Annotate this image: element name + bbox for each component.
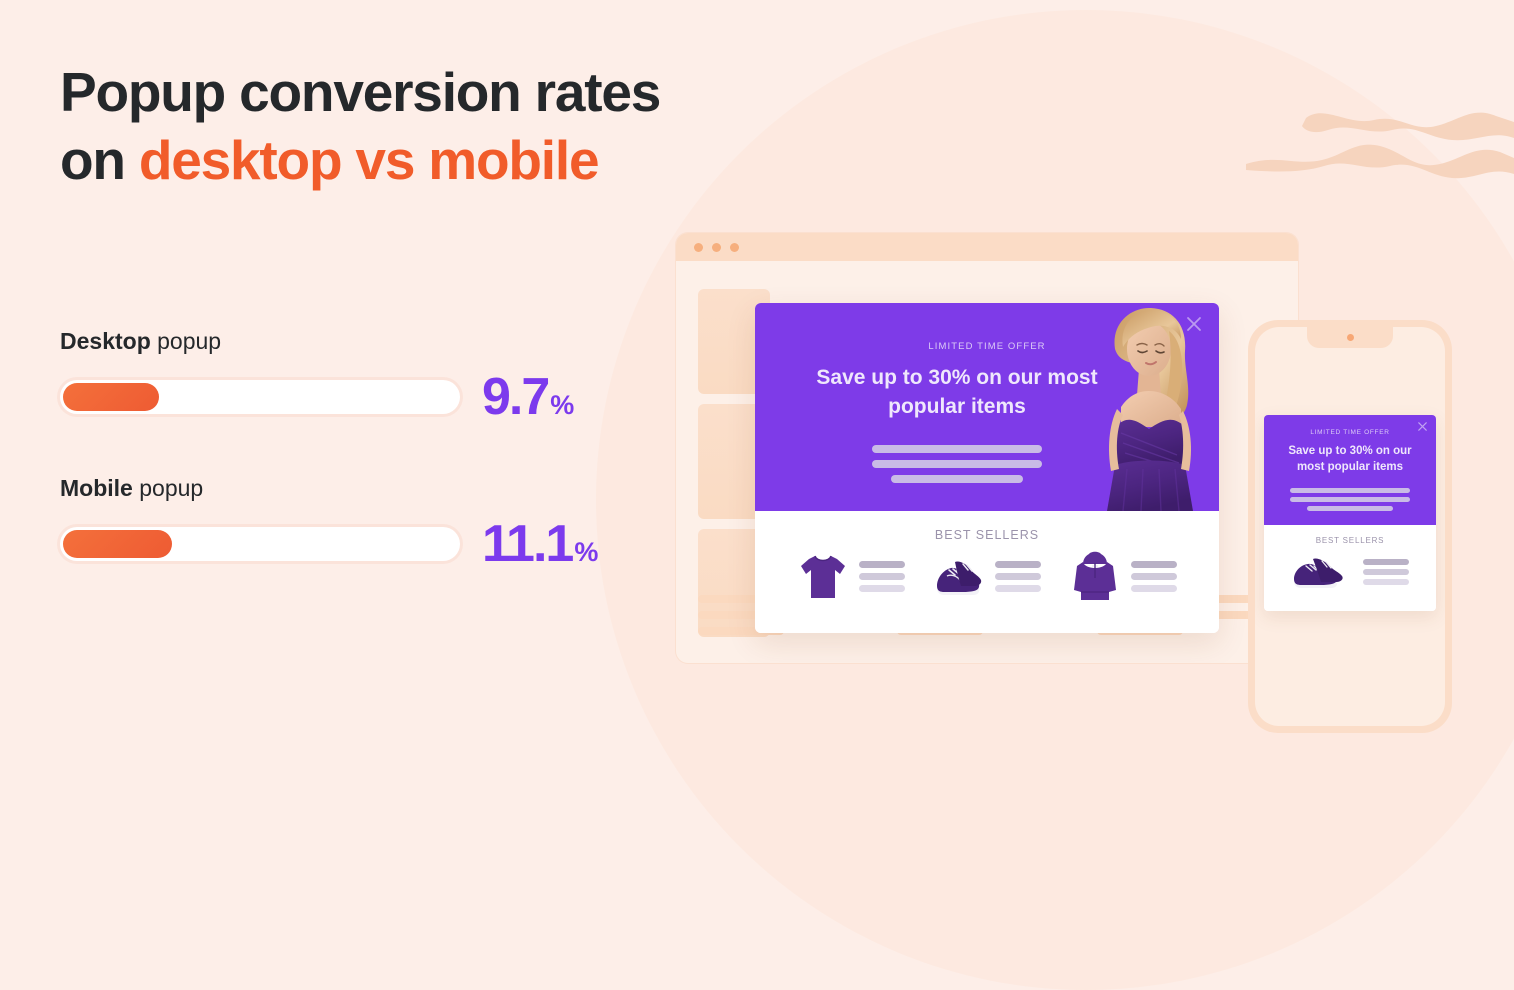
stat-line-desktop: 9.7% [60,371,620,423]
placeholder-bar [1307,506,1393,511]
stat-label-desktop-bold: Desktop [60,328,151,354]
traffic-light-maximize-icon[interactable] [730,243,739,252]
placeholder-line [995,585,1041,592]
mobile-popup-modal: LIMITED TIME OFFER Save up to 30% on our… [1264,415,1436,611]
progress-bar-fill-mobile [63,530,172,558]
stat-label-mobile-bold: Mobile [60,475,133,501]
placeholder-line [1131,585,1177,592]
close-icon[interactable] [1416,420,1429,433]
sneakers-icon [933,548,985,604]
model-photo [1081,303,1211,511]
mobile-popup-title: Save up to 30% on our most popular items [1274,443,1426,475]
progress-bar-mobile [60,527,460,561]
placeholder-line [859,585,905,592]
product-item-sneakers[interactable] [933,548,1041,604]
phone-screen: LIMITED TIME OFFER Save up to 30% on our… [1255,327,1445,726]
stat-line-mobile: 11.1% [60,518,620,570]
camera-icon [1347,334,1354,341]
headline-line-1: Popup conversion rates [60,61,660,123]
stat-value-mobile: 11.1% [482,518,598,570]
best-sellers-label: BEST SELLERS [755,511,1219,542]
product-text-placeholder [1363,559,1409,585]
hoodie-icon [1069,548,1121,604]
page-title: Popup conversion rates on desktop vs mob… [60,58,660,194]
browser-window-mockup: LIMITED TIME OFFER Save up to 30% on our… [676,233,1298,663]
stat-row-desktop: Desktop popup 9.7% [60,328,620,423]
stats-panel: Desktop popup 9.7% Mobile popup 11.1% [60,328,620,622]
placeholder-bar [891,475,1024,483]
stat-label-desktop-rest: popup [151,328,221,354]
stat-value-desktop: 9.7% [482,371,574,423]
mobile-popup-placeholder-bars [1274,488,1426,511]
mobile-popup-header: LIMITED TIME OFFER Save up to 30% on our… [1264,415,1436,525]
desktop-popup-modal: LIMITED TIME OFFER Save up to 30% on our… [755,303,1219,633]
stat-label-desktop: Desktop popup [60,328,620,355]
mobile-popup-eyebrow: LIMITED TIME OFFER [1274,429,1426,436]
placeholder-bar [1290,488,1410,493]
placeholder-line [995,573,1041,580]
product-item-tshirt[interactable] [797,548,905,604]
mobile-popup-body: BEST SELLERS [1264,525,1436,611]
product-list [755,542,1219,604]
placeholder-line [859,573,905,580]
product-text-placeholder [1131,561,1177,592]
progress-bar-desktop [60,380,460,414]
stat-value-mobile-number: 11.1 [482,518,572,570]
stat-value-mobile-unit: % [574,539,598,566]
desktop-popup-header: LIMITED TIME OFFER Save up to 30% on our… [755,303,1219,511]
placeholder-bar [872,460,1042,468]
product-item-hoodie[interactable] [1069,548,1177,604]
product-text-placeholder [995,561,1041,592]
placeholder-line [995,561,1041,568]
progress-bar-fill-desktop [63,383,159,411]
placeholder-bar [1290,497,1410,502]
stat-row-mobile: Mobile popup 11.1% [60,475,620,570]
browser-content-area: LIMITED TIME OFFER Save up to 30% on our… [676,261,1298,663]
stat-label-mobile: Mobile popup [60,475,620,502]
wave-decoration [1244,96,1514,196]
desktop-popup-placeholder-bars [872,445,1042,483]
product-item-sneakers[interactable] [1264,551,1436,593]
placeholder-line [1363,559,1409,565]
placeholder-line [1363,569,1409,575]
placeholder-line [1363,579,1409,585]
stat-value-desktop-number: 9.7 [482,371,548,423]
stat-label-mobile-rest: popup [133,475,203,501]
desktop-popup-title: Save up to 30% on our most popular items [807,363,1107,421]
placeholder-line [1131,561,1177,568]
placeholder-line [859,561,905,568]
best-sellers-label: BEST SELLERS [1264,536,1436,545]
desktop-popup-body: BEST SELLERS [755,511,1219,633]
phone-notch [1307,327,1393,348]
tshirt-icon [797,548,849,604]
browser-titlebar [676,233,1298,261]
placeholder-line [1131,573,1177,580]
sneakers-icon [1291,551,1353,593]
headline-line-2-accent: desktop vs mobile [139,129,598,191]
traffic-light-close-icon[interactable] [694,243,703,252]
product-text-placeholder [859,561,905,592]
stat-value-desktop-unit: % [550,392,574,419]
headline-line-2-prefix: on [60,129,139,191]
placeholder-bar [872,445,1042,453]
phone-mockup: LIMITED TIME OFFER Save up to 30% on our… [1248,320,1452,733]
traffic-light-minimize-icon[interactable] [712,243,721,252]
